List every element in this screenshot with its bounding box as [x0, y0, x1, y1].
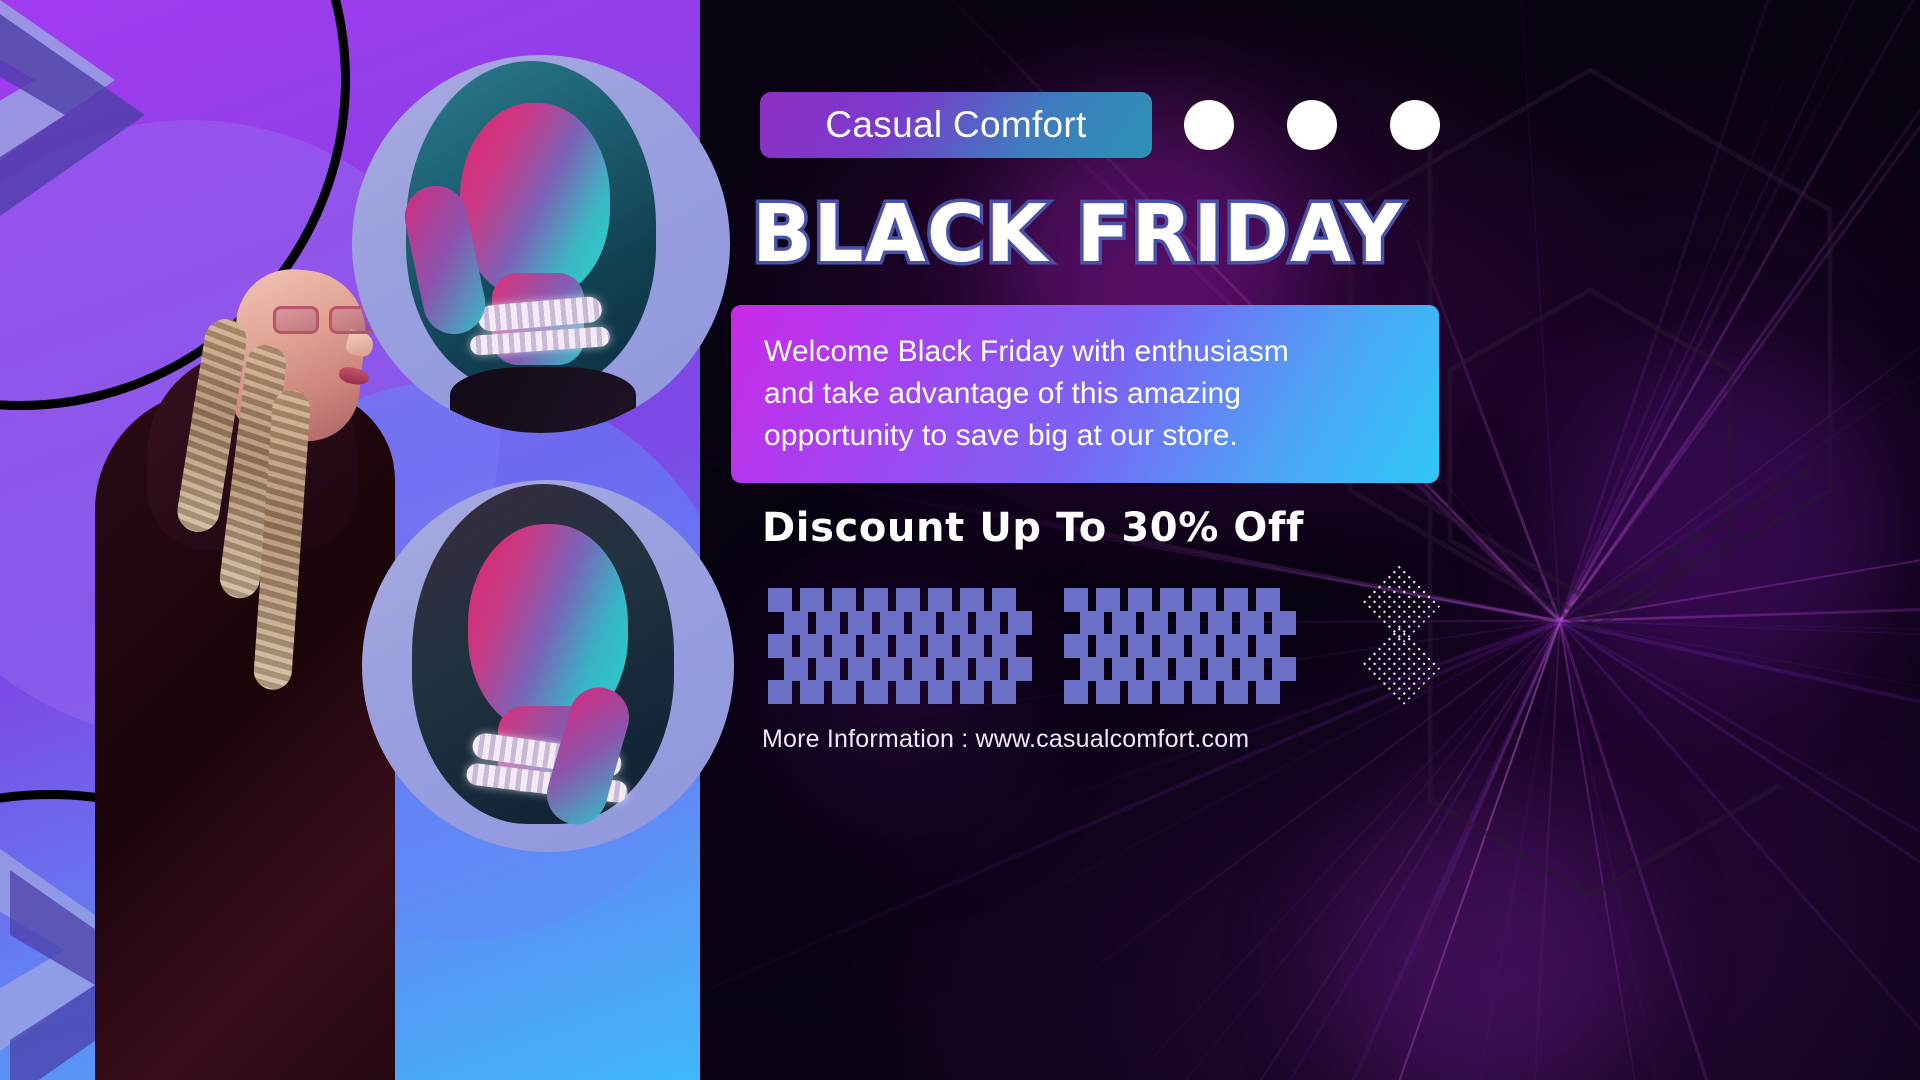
- checker-square: [864, 588, 888, 612]
- checker-square: [1192, 680, 1216, 704]
- checker-square: [912, 611, 936, 635]
- checker-square: [1272, 611, 1296, 635]
- checker-square: [1256, 634, 1280, 658]
- description-line-2: and take advantage of this amazing: [764, 373, 1439, 415]
- face: [460, 103, 610, 299]
- page-title: BLACK FRIDAY: [752, 190, 1452, 278]
- checker-square: [848, 657, 872, 681]
- description-line-1: Welcome Black Friday with enthusiasm: [764, 331, 1439, 373]
- checker-square: [992, 680, 1016, 704]
- checker-square: [1160, 588, 1184, 612]
- checker-square: [1128, 680, 1152, 704]
- description-line-3: opportunity to save big at our store.: [764, 415, 1439, 457]
- checker-square: [896, 588, 920, 612]
- checker-square: [1008, 657, 1032, 681]
- checker-square: [1176, 657, 1200, 681]
- circle-dot-icon: [1287, 100, 1337, 150]
- checker-square: [1192, 634, 1216, 658]
- checker-square: [784, 611, 808, 635]
- checker-square: [896, 680, 920, 704]
- checker-square: [1128, 588, 1152, 612]
- model-photo-circle-top: [352, 55, 730, 433]
- checker-square: [1256, 588, 1280, 612]
- circle-dot-icon: [1184, 100, 1234, 150]
- checker-square: [1224, 588, 1248, 612]
- checker-square: [976, 657, 1000, 681]
- checker-square: [912, 657, 936, 681]
- black-friday-banner: Casual Comfort BLACK FRIDAY Welcome Blac…: [0, 0, 1920, 1080]
- checker-square: [944, 657, 968, 681]
- description-box: Welcome Black Friday with enthusiasm and…: [731, 305, 1439, 483]
- checkerboard-icon-right: [1064, 588, 1312, 686]
- brand-badge[interactable]: Casual Comfort: [760, 92, 1152, 158]
- checker-square: [832, 680, 856, 704]
- checker-square: [816, 611, 840, 635]
- checker-square: [832, 634, 856, 658]
- checker-square: [768, 588, 792, 612]
- checker-square: [1224, 634, 1248, 658]
- checker-square: [1008, 611, 1032, 635]
- checker-square: [1080, 611, 1104, 635]
- checker-square: [1144, 657, 1168, 681]
- more-information-text: More Information : www.casualcomfort.com: [762, 725, 1462, 759]
- checker-square: [1160, 680, 1184, 704]
- checker-square: [928, 588, 952, 612]
- checker-square: [944, 611, 968, 635]
- checker-square: [992, 588, 1016, 612]
- checker-square: [1192, 588, 1216, 612]
- dot-decoration-group: [1184, 100, 1440, 152]
- checker-square: [1064, 680, 1088, 704]
- checkerboard-icon-left: [768, 588, 1016, 686]
- checker-square: [1096, 680, 1120, 704]
- dotted-diamond-icon: [1366, 575, 1434, 695]
- checker-square: [1096, 588, 1120, 612]
- checker-square: [928, 634, 952, 658]
- checker-square: [800, 680, 824, 704]
- checker-square: [768, 634, 792, 658]
- checker-square: [976, 611, 1000, 635]
- checker-square: [1240, 611, 1264, 635]
- checker-square: [1176, 611, 1200, 635]
- checker-square: [816, 657, 840, 681]
- checker-square: [960, 634, 984, 658]
- checker-square: [1224, 680, 1248, 704]
- checker-square: [1096, 634, 1120, 658]
- checker-square: [1256, 680, 1280, 704]
- checker-square: [864, 634, 888, 658]
- checker-square: [1112, 611, 1136, 635]
- garment: [450, 367, 636, 433]
- model-photo-circle-bottom: [362, 480, 734, 852]
- checker-square: [1208, 657, 1232, 681]
- checker-square: [1080, 657, 1104, 681]
- brand-badge-label: Casual Comfort: [825, 104, 1086, 146]
- checker-square: [992, 634, 1016, 658]
- checker-square: [1064, 588, 1088, 612]
- checker-square: [1208, 611, 1232, 635]
- checker-square: [880, 657, 904, 681]
- sunglasses-icon: [273, 306, 377, 336]
- discount-headline: Discount Up To 30% Off: [762, 505, 1452, 557]
- checker-square: [1144, 611, 1168, 635]
- checker-square: [880, 611, 904, 635]
- checker-square: [928, 680, 952, 704]
- checker-square: [800, 588, 824, 612]
- checker-square: [832, 588, 856, 612]
- checker-square: [1160, 634, 1184, 658]
- checker-square: [1272, 657, 1296, 681]
- checker-square: [800, 634, 824, 658]
- checker-square: [768, 680, 792, 704]
- checker-square: [1128, 634, 1152, 658]
- circle-dot-icon: [1390, 100, 1440, 150]
- checker-square: [896, 634, 920, 658]
- checker-square: [848, 611, 872, 635]
- checker-square: [1112, 657, 1136, 681]
- checker-square: [784, 657, 808, 681]
- checker-square: [1064, 634, 1088, 658]
- checker-square: [864, 680, 888, 704]
- checker-square: [960, 680, 984, 704]
- checker-square: [960, 588, 984, 612]
- checker-square: [1240, 657, 1264, 681]
